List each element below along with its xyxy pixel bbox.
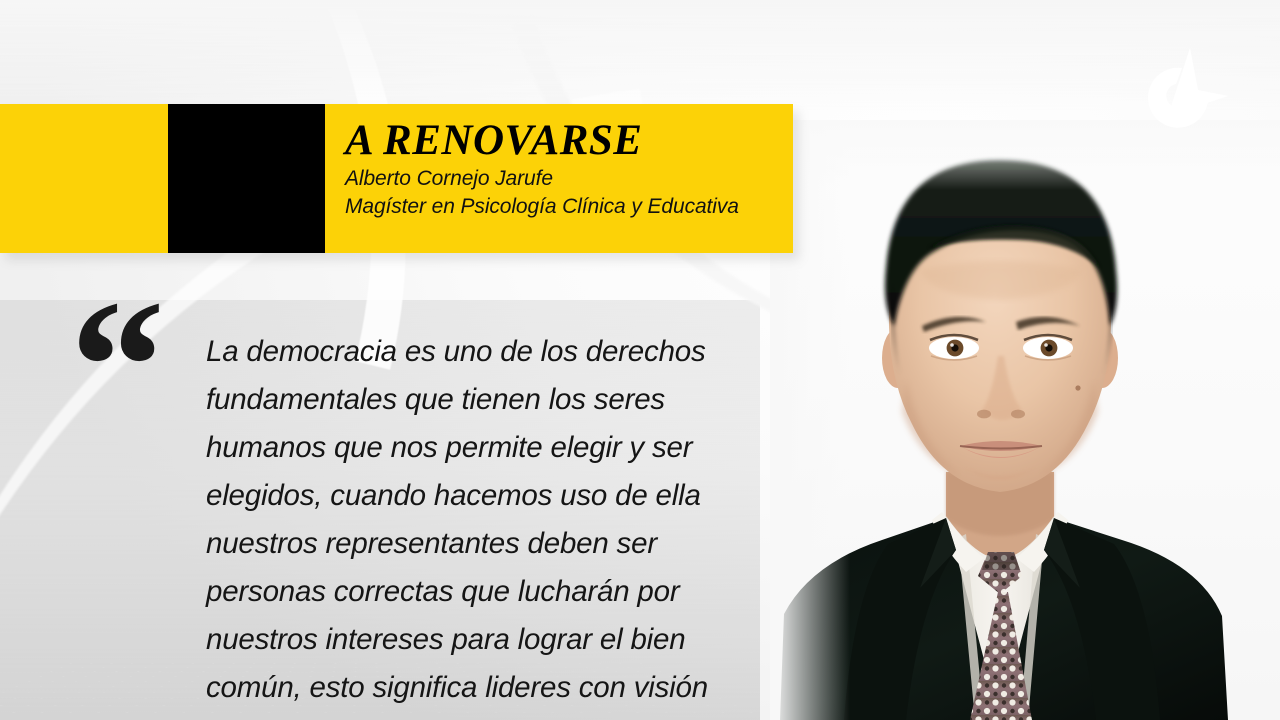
quote-card: A RENOVARSE Alberto Cornejo Jarufe Magís…	[0, 0, 1280, 720]
brand-logo-icon	[1124, 46, 1232, 150]
banner-title: A RENOVARSE	[345, 116, 790, 165]
portrait-photo	[770, 120, 1280, 720]
banner-black-block	[168, 104, 325, 253]
title-banner: A RENOVARSE Alberto Cornejo Jarufe Magís…	[0, 104, 793, 253]
banner-text-group: A RENOVARSE Alberto Cornejo Jarufe Magís…	[345, 104, 790, 253]
quotation-mark-icon: “	[70, 272, 159, 462]
banner-author: Alberto Cornejo Jarufe	[345, 165, 790, 193]
portrait-illustration	[770, 120, 1280, 720]
background-top-vignette	[0, 0, 1280, 110]
quote-text: La democracia es uno de los derechos fun…	[206, 328, 766, 720]
banner-credential: Magíster en Psicología Clínica y Educati…	[345, 193, 790, 221]
